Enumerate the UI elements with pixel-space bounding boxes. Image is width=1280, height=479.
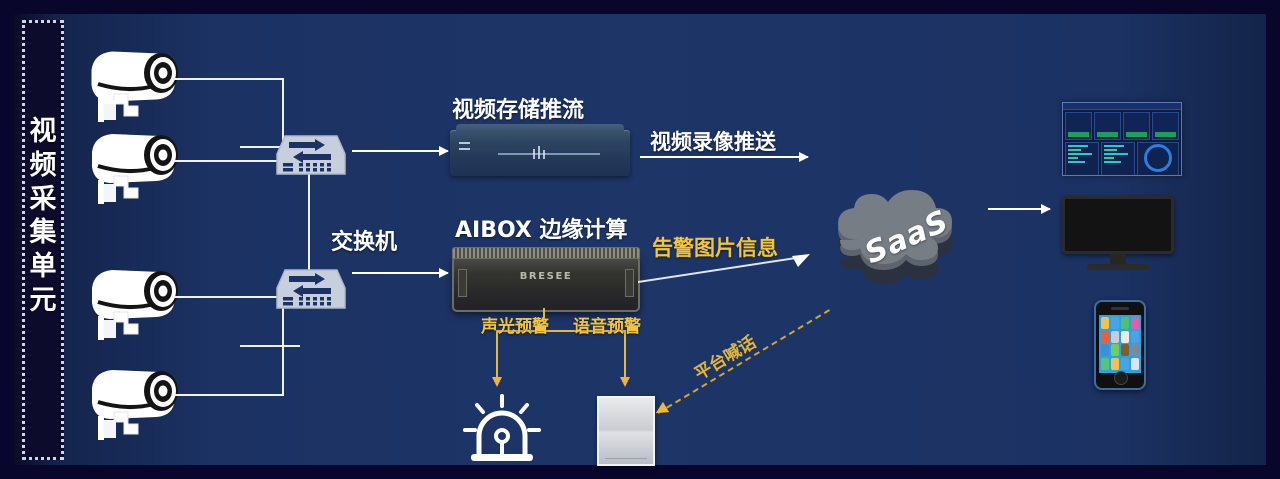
aibox-brand-label: BRESEE: [454, 271, 638, 282]
cam3-link: [172, 296, 284, 298]
dashboard-title-bar: [1063, 103, 1181, 110]
network-switch-icon: [275, 262, 347, 312]
voice-speaker-panel: [597, 396, 655, 466]
cam4-link: [172, 394, 284, 396]
switch-to-nvr-arrow: [352, 150, 448, 152]
dashboard-card-row: [1063, 110, 1181, 142]
speaker-arrow: [624, 330, 626, 378]
switch-label: 交换机: [331, 224, 397, 256]
outer-border-top: [0, 0, 1280, 14]
outer-border-right: [1266, 0, 1280, 479]
video-record-push-label: 视频录像推送: [650, 126, 776, 156]
phone-home-button[interactable]: [1114, 371, 1128, 385]
phone-earpiece: [1111, 307, 1129, 310]
dashboard-bar-chart: [1065, 142, 1099, 176]
smartphone: [1094, 300, 1146, 390]
speaker-label: 语音预警: [573, 312, 641, 337]
vlabel-char: 采: [25, 183, 61, 217]
desktop-monitor: [1062, 196, 1174, 272]
video-record-push-arrow: [640, 156, 808, 158]
outer-border-left: [0, 0, 14, 479]
dashboard-card: [1123, 112, 1150, 140]
monitor-screen: [1062, 196, 1174, 254]
vlabel-char: 元: [25, 284, 61, 318]
cam1-link: [172, 78, 284, 80]
cctv-camera-icon: [84, 258, 194, 344]
cctv-camera-icon: [84, 122, 194, 208]
dashboard-card: [1065, 112, 1092, 140]
switch2-feed: [240, 345, 300, 347]
saas-cloud: SaaS: [822, 180, 992, 288]
video-wall-dashboard: [1062, 102, 1182, 176]
nvr-drive-slot: [498, 153, 600, 166]
vlabel-char: 集: [25, 216, 61, 250]
dashboard-bar-chart: [1101, 142, 1135, 176]
dashboard-card: [1152, 112, 1179, 140]
aibox-heatsink: [452, 247, 640, 259]
dashboard-gauge: [1137, 142, 1179, 176]
diagram-canvas: 视 频 采 集 单 元: [0, 0, 1280, 479]
vlabel-char: 单: [25, 250, 61, 284]
network-switch-icon: [275, 128, 347, 178]
outer-border-bottom: [0, 465, 1280, 479]
nvr-device: [450, 130, 630, 176]
video-capture-unit-label: 视 频 采 集 单 元: [25, 115, 61, 318]
vlabel-char: 视: [25, 115, 61, 149]
monitor-neck: [1110, 254, 1126, 264]
nvr-title: 视频存储推流: [452, 92, 584, 124]
alarm-siren-icon: [459, 392, 545, 468]
aibox-device: BRESEE: [452, 256, 640, 312]
video-capture-unit-box: 视 频 采 集 单 元: [22, 20, 64, 460]
vlabel-char: 频: [25, 149, 61, 183]
cctv-camera-icon: [84, 358, 194, 444]
dashboard-card: [1094, 112, 1121, 140]
nvr-led-group: [459, 142, 470, 154]
monitor-base: [1087, 264, 1149, 270]
switch-to-aibox-arrow: [352, 272, 448, 274]
alarm-image-info-label: 告警图片信息: [652, 232, 778, 262]
cctv-camera-icon: [84, 40, 194, 126]
siren-arrow: [496, 330, 498, 378]
aibox-title: AIBOX 边缘计算: [455, 212, 628, 244]
cloud-to-clients-arrow: [988, 208, 1050, 210]
dashboard-bottom-row: [1063, 142, 1181, 176]
siren-label: 声光预警: [481, 312, 549, 337]
phone-screen: [1099, 315, 1141, 373]
cam2-link: [172, 160, 284, 162]
